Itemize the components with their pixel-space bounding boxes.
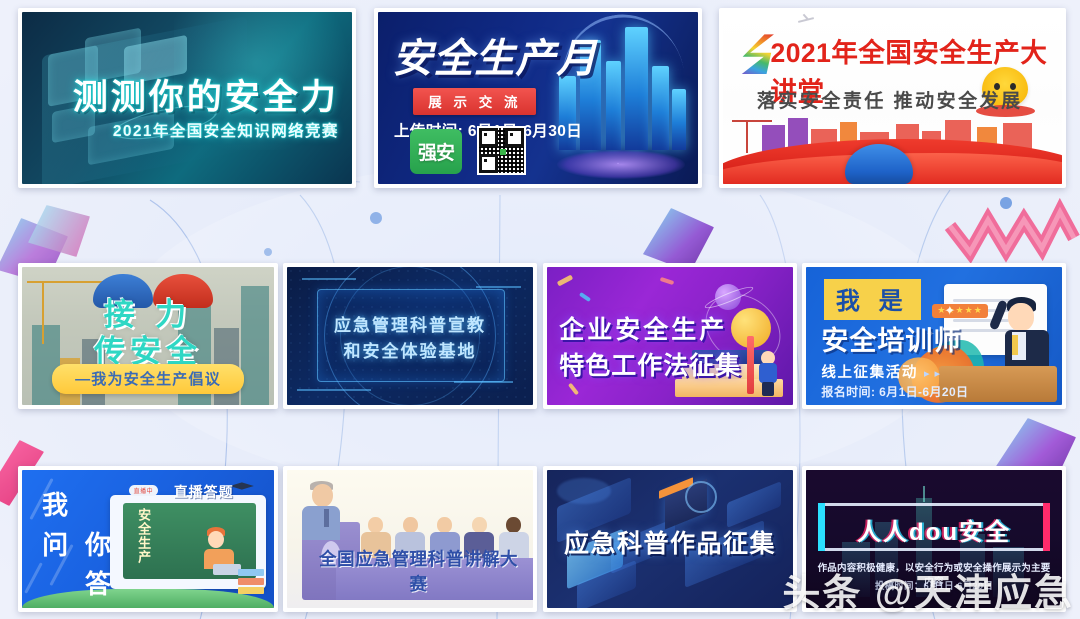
stage-disc [557, 150, 685, 179]
poster-card-everyone-dou-safety[interactable]: 人人dou安全 作品内容积极健康，以安全行为或安全操作展示为主要内容 投稿时间：… [802, 466, 1066, 612]
poster-card-emergency-science-base[interactable]: 应急管理科普宣教 和安全体验基地 [283, 263, 537, 409]
poster-badge: 我 是 [824, 279, 921, 320]
qiangan-logo: 强安 [410, 129, 462, 174]
poster-subtitle: 2021年全国安全知识网络竞赛 [22, 119, 339, 141]
poster-title-line2: 特色工作法征集 [559, 346, 741, 382]
poster-banner: —我为安全生产倡议 [52, 364, 244, 394]
poster-collage-canvas: 测测你的安全力 2021年全国安全知识网络竞赛 安全生产月 展 示 交 流 上传… [0, 0, 1080, 619]
planet-icon [715, 284, 741, 310]
poster-title: 安全生产月 [392, 26, 597, 84]
poster-title: 安全培训师 [821, 319, 961, 358]
airplane-icon [798, 17, 814, 23]
exhibit-badge: 展 示 交 流 [413, 88, 536, 115]
blackboard-text: 安全生产 [136, 508, 151, 564]
poster-subtitle: 落实安全责任 推动安全发展 [757, 86, 1023, 113]
gear-ring-icon [685, 481, 717, 513]
emergency-management-logo [740, 34, 774, 74]
poster-subtitle-2: 投稿时间：6月1日-6月20日 [816, 578, 1052, 592]
live-pill-badge: 直播中 [129, 485, 159, 496]
live-quiz-label: 直播答题 [174, 482, 234, 502]
poster-card-national-safety-lecture-hall[interactable]: 2021年全国安全生产大讲堂 落实安全责任 推动安全发展 [719, 8, 1066, 188]
qr-code[interactable] [477, 126, 526, 175]
poster-line-text: 线上征集活动 [821, 365, 918, 381]
poster-card-safety-power-quiz[interactable]: 测测你的安全力 2021年全国安全知识网络竞赛 [18, 8, 356, 188]
poster-card-emergency-works-collection[interactable]: 应急科普作品征集 [543, 466, 797, 612]
arrow-icon: ▸ ▸ [924, 368, 941, 380]
poster-char-3: 你 [85, 525, 111, 562]
poster-title: 测测你的安全力 [22, 69, 339, 120]
poster-char-1: 我 [42, 485, 68, 522]
poster-card-enterprise-work-method[interactable]: 企业安全生产 特色工作法征集 [543, 263, 797, 409]
poster-char-4: 答 [85, 564, 111, 601]
book-stack-art [238, 587, 264, 594]
poster-title: 应急科普作品征集 [547, 524, 793, 560]
poster-card-safety-production-month[interactable]: 安全生产月 展 示 交 流 上传时间: 6月1日-6月30日 强安 [374, 8, 702, 188]
poster-title: 全国应急管理科普讲解大赛 [312, 546, 526, 596]
poster-grid: 测测你的安全力 2021年全国安全知识网络竞赛 安全生产月 展 示 交 流 上传… [0, 0, 1080, 619]
poster-char-2: 问 [42, 525, 68, 562]
poster-title-line1: 应急管理科普宣教 [287, 311, 533, 336]
poster-card-i-am-safety-trainer[interactable]: ★★★★★ ✦ ✦ 我 是 安全培训师 线上征集活动▸ ▸ 报名时间: 6月1日… [802, 263, 1066, 409]
signup-date-text: 报名时间: 6月1日-6月20日 [821, 383, 968, 400]
rating-stars: ★★★★★ [932, 304, 987, 318]
student-figure [758, 351, 778, 395]
pencil-art [747, 336, 754, 394]
poster-line: 线上征集活动▸ ▸ [821, 361, 941, 382]
poster-title-line1: 企业安全生产 [559, 310, 727, 346]
poster-card-relay-pass-safety[interactable]: 接 力 传安全 —我为安全生产倡议 [18, 263, 278, 409]
grass-art [22, 589, 274, 608]
poster-card-national-science-speech-contest[interactable]: 全国应急管理科普讲解大赛 [283, 466, 537, 612]
poster-title: 人人dou安全 [806, 512, 1062, 547]
poster-card-i-ask-you-answer[interactable]: 安全生产 直播中 直播答题 我 问 你 答 [18, 466, 278, 612]
poster-title-line2: 和安全体验基地 [287, 337, 533, 362]
sparkle-icon: ✦ [944, 303, 955, 319]
